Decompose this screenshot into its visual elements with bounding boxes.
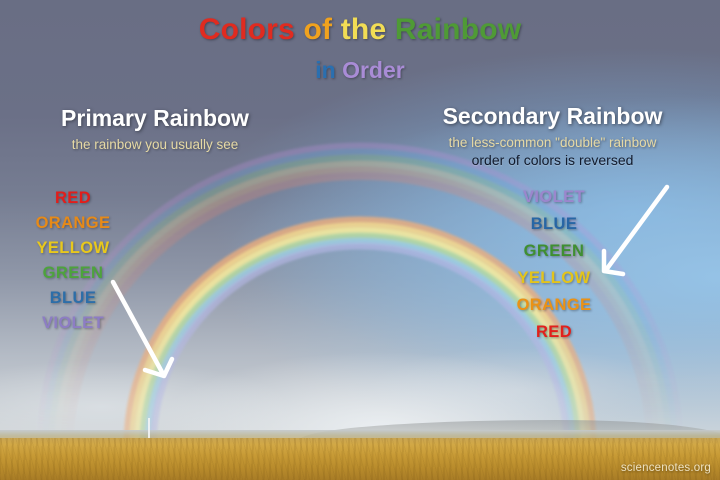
secondary-color-item: RED	[488, 319, 620, 346]
primary-heading: Primary Rainbow	[0, 105, 310, 132]
secondary-heading: Secondary Rainbow	[385, 103, 720, 130]
title-word-colors: Colors	[199, 13, 295, 46]
secondary-color-item: YELLOW	[488, 265, 620, 292]
page-title: Colors of the Rainbow	[0, 14, 720, 46]
primary-subtitle: the rainbow you usually see	[0, 137, 310, 152]
primary-color-item: VIOLET	[8, 311, 138, 336]
title-word-order: Order	[342, 57, 405, 83]
secondary-subtitle: the less-common "double" rainbow	[385, 135, 720, 150]
title-word-of: of	[303, 13, 332, 46]
secondary-color-item: VIOLET	[488, 184, 620, 211]
primary-color-item: GREEN	[8, 261, 138, 286]
primary-color-item: YELLOW	[8, 236, 138, 261]
secondary-color-item: BLUE	[488, 211, 620, 238]
primary-color-item: BLUE	[8, 286, 138, 311]
title-word-the: the	[341, 13, 387, 46]
secondary-note: order of colors is reversed	[385, 152, 720, 168]
title-word-in: in	[315, 57, 335, 83]
primary-color-item: ORANGE	[8, 211, 138, 236]
title-word-rainbow: Rainbow	[395, 13, 521, 46]
primary-color-list: RED ORANGE YELLOW GREEN BLUE VIOLET	[8, 186, 138, 336]
rainbow-infographic: Colors of the Rainbow in Order Primary R…	[0, 0, 720, 480]
secondary-color-item: GREEN	[488, 238, 620, 265]
page-subtitle: in Order	[0, 57, 720, 84]
site-watermark: sciencenotes.org	[621, 462, 711, 474]
secondary-color-item: ORANGE	[488, 292, 620, 319]
primary-rainbow-section: Primary Rainbow the rainbow you usually …	[0, 105, 310, 152]
primary-color-item: RED	[8, 186, 138, 211]
secondary-color-list: VIOLET BLUE GREEN YELLOW ORANGE RED	[488, 184, 620, 346]
secondary-rainbow-section: Secondary Rainbow the less-common "doubl…	[385, 103, 720, 168]
